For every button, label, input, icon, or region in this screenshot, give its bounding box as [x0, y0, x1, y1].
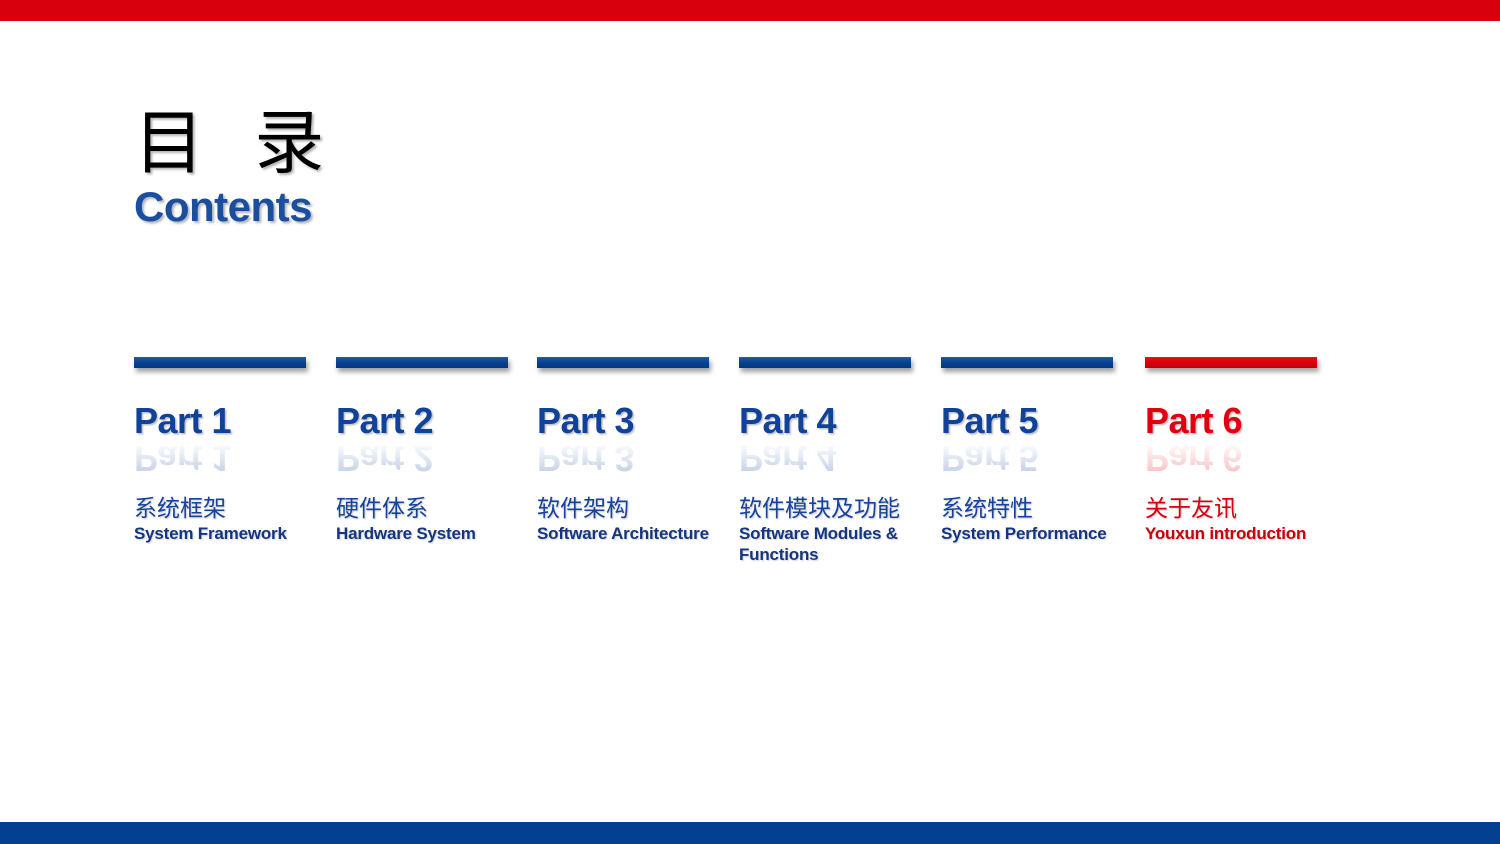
part-description: 软件模块及功能 Software Modules & Functions [739, 496, 935, 565]
part-label-reflection: Part 6 [1145, 439, 1242, 477]
contents-item-part-1[interactable]: Part 1 Part 1 系统框架 System Framework [134, 357, 330, 544]
page-title-chinese: 目 录 [134, 104, 654, 182]
part-label: Part 5 [941, 402, 1137, 440]
part-label: Part 2 [336, 402, 532, 440]
part-description-chinese: 系统特性 [941, 496, 1137, 523]
part-label: Part 4 [739, 402, 935, 440]
part-description: 软件架构 Software Architecture [537, 496, 733, 544]
part-label-reflection: Part 4 [739, 439, 836, 477]
part-label-reflection: Part 2 [336, 439, 433, 477]
contents-item-part-4[interactable]: Part 4 Part 4 软件模块及功能 Software Modules &… [739, 357, 935, 565]
part-label: Part 3 [537, 402, 733, 440]
contents-item-part-5[interactable]: Part 5 Part 5 系统特性 System Performance [941, 357, 1137, 544]
contents-item-part-6[interactable]: Part 6 Part 6 关于友讯 Youxun introduction [1145, 357, 1341, 544]
contents-item-part-2[interactable]: Part 2 Part 2 硬件体系 Hardware System [336, 357, 532, 544]
slide-heading: 目 录 Contents [134, 104, 654, 230]
top-accent-bar [0, 0, 1500, 21]
part-description: 系统框架 System Framework [134, 496, 330, 544]
part-label-reflection: Part 5 [941, 439, 1038, 477]
part-description-english: Hardware System [336, 523, 522, 544]
part-title-block: Part 5 Part 5 [941, 402, 1137, 488]
part-description-english: Software Architecture [537, 523, 723, 544]
part-accent-bar [739, 357, 911, 368]
part-description-chinese: 硬件体系 [336, 496, 532, 523]
part-title-block: Part 1 Part 1 [134, 402, 330, 488]
part-description-english: System Performance [941, 523, 1127, 544]
part-description: 硬件体系 Hardware System [336, 496, 532, 544]
part-accent-bar [134, 357, 306, 368]
part-label: Part 1 [134, 402, 330, 440]
part-description: 关于友讯 Youxun introduction [1145, 496, 1341, 544]
contents-parts-row: Part 1 Part 1 系统框架 System Framework Part… [134, 357, 1354, 617]
part-title-block: Part 3 Part 3 [537, 402, 733, 488]
part-accent-bar [941, 357, 1113, 368]
contents-item-part-3[interactable]: Part 3 Part 3 软件架构 Software Architecture [537, 357, 733, 544]
part-accent-bar [1145, 357, 1317, 368]
part-description-english: System Framework [134, 523, 320, 544]
part-description-chinese: 关于友讯 [1145, 496, 1341, 523]
part-label: Part 6 [1145, 402, 1341, 440]
part-label-reflection: Part 1 [134, 439, 231, 477]
part-description-english: Youxun introduction [1145, 523, 1331, 544]
part-title-block: Part 2 Part 2 [336, 402, 532, 488]
page-title-english: Contents [134, 184, 654, 230]
part-accent-bar [336, 357, 508, 368]
part-description-chinese: 系统框架 [134, 496, 330, 523]
part-description-chinese: 软件架构 [537, 496, 733, 523]
presentation-slide: 目 录 Contents Part 1 Part 1 系统框架 System F… [0, 0, 1500, 844]
part-title-block: Part 4 Part 4 [739, 402, 935, 488]
part-label-reflection: Part 3 [537, 439, 634, 477]
part-title-block: Part 6 Part 6 [1145, 402, 1341, 488]
bottom-accent-bar [0, 822, 1500, 844]
part-description: 系统特性 System Performance [941, 496, 1137, 544]
part-description-chinese: 软件模块及功能 [739, 496, 935, 523]
part-accent-bar [537, 357, 709, 368]
part-description-english: Software Modules & Functions [739, 523, 925, 565]
